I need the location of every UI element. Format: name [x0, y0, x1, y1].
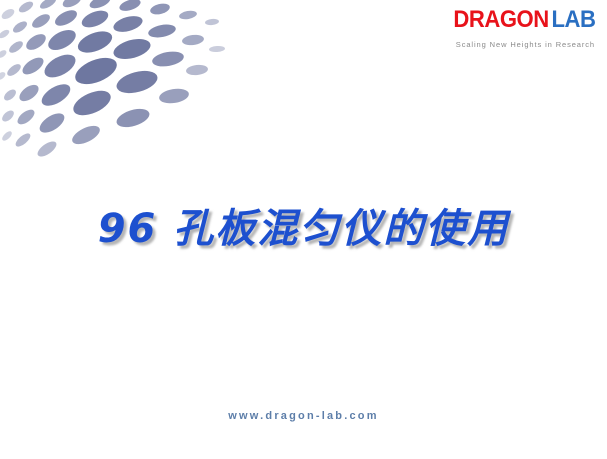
footer-website-url: www.dragon-lab.com — [0, 410, 607, 422]
dot-swirl-pattern — [0, 0, 300, 170]
presentation-slide: DRAGONLAB Scaling New Heights in Researc… — [0, 0, 607, 459]
logo-tagline: Scaling New Heights in Research — [441, 41, 596, 49]
logo-lab-text: LAB — [551, 6, 595, 33]
brand-logo: DRAGONLAB Scaling New Heights in Researc… — [441, 8, 596, 49]
logo-wordmark: DRAGONLAB — [453, 8, 595, 32]
page-title: 96 孔板混匀仪的使用 — [0, 196, 607, 254]
logo-dragon-text: DRAGON — [453, 6, 548, 33]
